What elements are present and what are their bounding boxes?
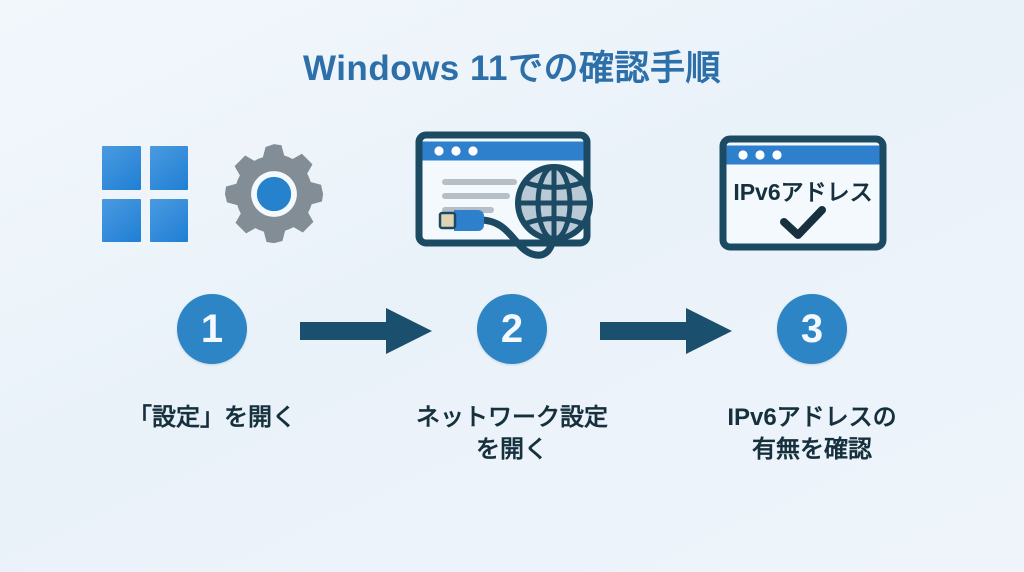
step-1-caption: 「設定」を開く [62, 402, 362, 434]
step-number-2: 2 [477, 294, 547, 364]
windows-logo-icon [102, 146, 188, 242]
step-3-caption: IPv6アドレスの 有無を確認 [662, 402, 962, 465]
slide-root: Windows 11での確認手順 1 「設定」を開く [0, 0, 1024, 572]
step-2-icon-group [362, 120, 662, 270]
window-dot-1 [738, 150, 747, 159]
step-2-caption: ネットワーク設定 を開く [362, 402, 662, 465]
browser-window-icon: IPv6アドレス [718, 134, 908, 254]
window-dot-3 [772, 150, 781, 159]
window-dot-2 [451, 146, 460, 155]
step-column-1: 1 「設定」を開く [62, 120, 362, 540]
window-dot-1 [434, 146, 443, 155]
step-number-3: 3 [777, 294, 847, 364]
arrow-step-2-to-3 [600, 308, 732, 354]
windows-logo-pane-bottom-right [150, 199, 189, 243]
step-3-icon-group: IPv6アドレス [662, 120, 962, 270]
arrow-step-1-to-2 [300, 308, 432, 354]
window-dot-3 [468, 146, 477, 155]
step-1-row: 1 [62, 290, 362, 370]
windows-logo-pane-top-left [102, 146, 141, 190]
step-number-1: 1 [177, 294, 247, 364]
browser-window-icon [414, 130, 610, 262]
window-dot-2 [755, 150, 764, 159]
globe-icon [518, 167, 590, 239]
ipv6-label: IPv6アドレス [733, 179, 872, 205]
windows-logo-pane-bottom-left [102, 199, 141, 243]
step-1-icon-group [62, 120, 362, 270]
page-title: Windows 11での確認手順 [0, 40, 1024, 91]
windows-logo-pane-top-right [150, 146, 189, 190]
gear-icon [222, 142, 326, 246]
